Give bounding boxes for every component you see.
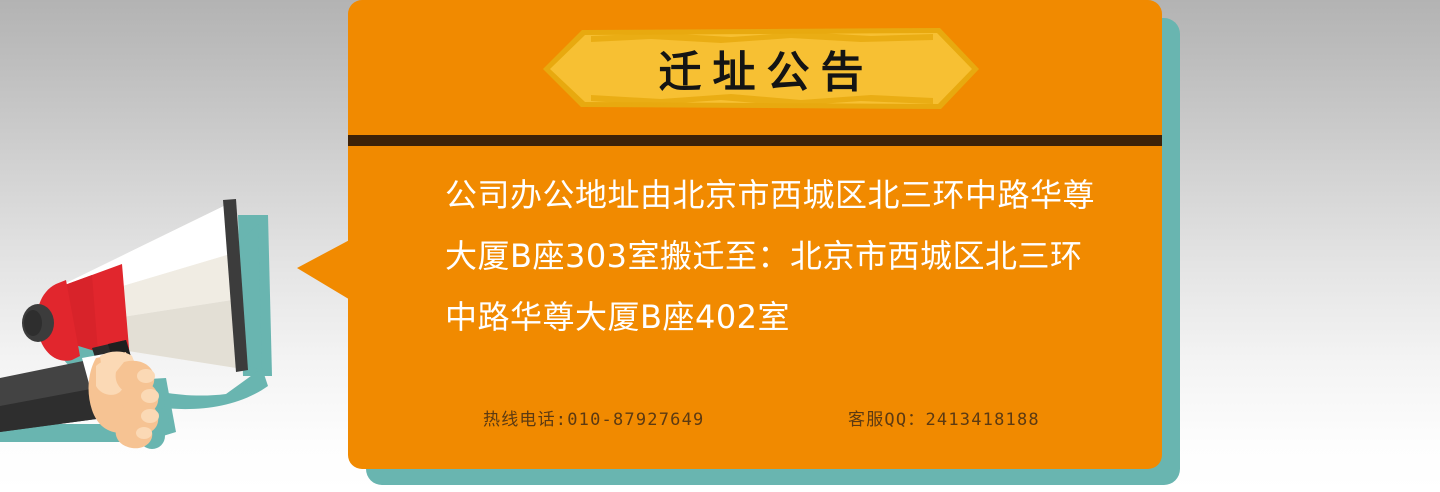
contact-footer: 热线电话:010-87927649 客服QQ：2413418188	[348, 405, 1162, 439]
announcement-banner-image: 迁址公告 公司办公地址由北京市西城区北三环中路华尊大厦B座303室搬迁至：北京市…	[0, 0, 1440, 492]
megaphone-illustration	[0, 180, 340, 492]
hotline-phone: 热线电话:010-87927649	[483, 405, 704, 430]
title-banner: 迁址公告	[541, 27, 981, 111]
header-divider	[348, 135, 1162, 146]
announcement-card: 迁址公告 公司办公地址由北京市西城区北三环中路华尊大厦B座303室搬迁至：北京市…	[348, 0, 1162, 469]
megaphone-rear-knob	[22, 304, 54, 342]
service-qq: 客服QQ：2413418188	[848, 405, 1040, 430]
announcement-title: 迁址公告	[541, 27, 981, 111]
announcement-body: 公司办公地址由北京市西城区北三环中路华尊大厦B座303室搬迁至：北京市西城区北三…	[445, 165, 1105, 348]
